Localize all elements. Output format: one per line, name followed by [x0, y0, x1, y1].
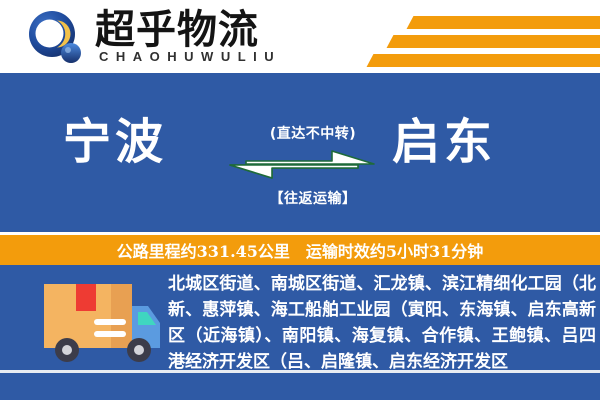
double-headed-arrow-icon: [228, 147, 376, 181]
crescent-circle-logo-icon: [27, 10, 83, 66]
route-note-direct: (直达不中转): [248, 123, 378, 143]
brand-name-en: CHAOHUWULIU: [99, 49, 281, 64]
decorative-stripes: [350, 8, 600, 70]
origin-city: 宁波: [63, 114, 167, 170]
stripe-3: [367, 54, 600, 67]
route-info-text: 公路里程约331.45公里 运输时效约5小时31分钟: [117, 238, 484, 262]
brand-name-cn: 超乎物流: [95, 8, 259, 52]
stripe-2: [387, 35, 600, 48]
destination-city: 启东: [392, 114, 496, 170]
route-info-bar: 公路里程约331.45公里 运输时效约5小时31分钟: [0, 235, 600, 265]
stripe-1: [407, 16, 600, 29]
route-note-roundtrip: 【往返运输】: [243, 188, 383, 208]
coverage-area-text: 北城区街道、南城区街道、汇龙镇、滨江精细化工园（北新、惠萍镇、海工船舶工业园（寅…: [168, 271, 596, 375]
brand-header: 超乎物流 CHAOHUWULIU: [0, 0, 600, 77]
bottom-divider: [0, 370, 600, 373]
delivery-truck-icon: [26, 276, 166, 368]
logistics-route-banner: 超乎物流 CHAOHUWULIU 宁波 启东 (直达不中转) 【往返运输】 公路…: [0, 0, 600, 400]
